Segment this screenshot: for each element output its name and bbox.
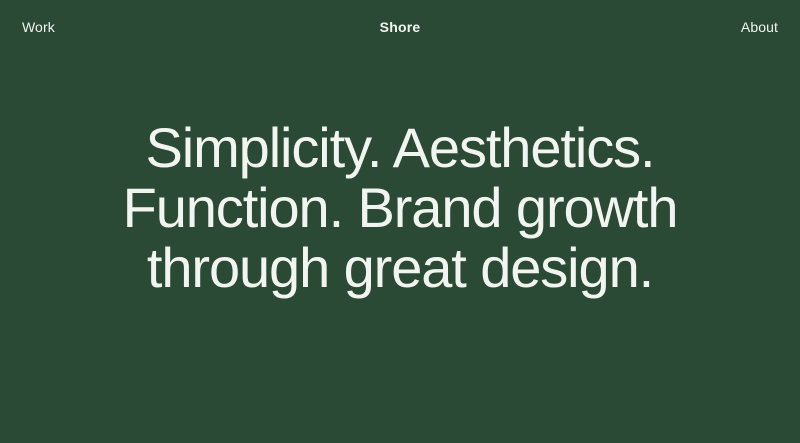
brand-container: Shore [0,0,800,54]
hero-headline-line-2: Function. Brand growth [123,178,678,238]
hero-headline-line-1: Simplicity. Aesthetics. [123,118,678,178]
hero-headline: Simplicity. Aesthetics. Function. Brand … [123,118,678,298]
primary-nav-left: Work [22,20,55,34]
site-header: Work About Shore [0,0,800,54]
nav-link-about[interactable]: About [741,20,778,34]
landing-page: Work About Shore Simplicity. Aesthetics.… [0,0,800,443]
nav-link-work[interactable]: Work [22,20,55,34]
hero-headline-line-3: through great design. [123,238,678,298]
brand-logo-shore[interactable]: Shore [380,20,421,34]
hero-section: Simplicity. Aesthetics. Function. Brand … [0,118,800,298]
primary-nav-right: About [741,20,778,34]
